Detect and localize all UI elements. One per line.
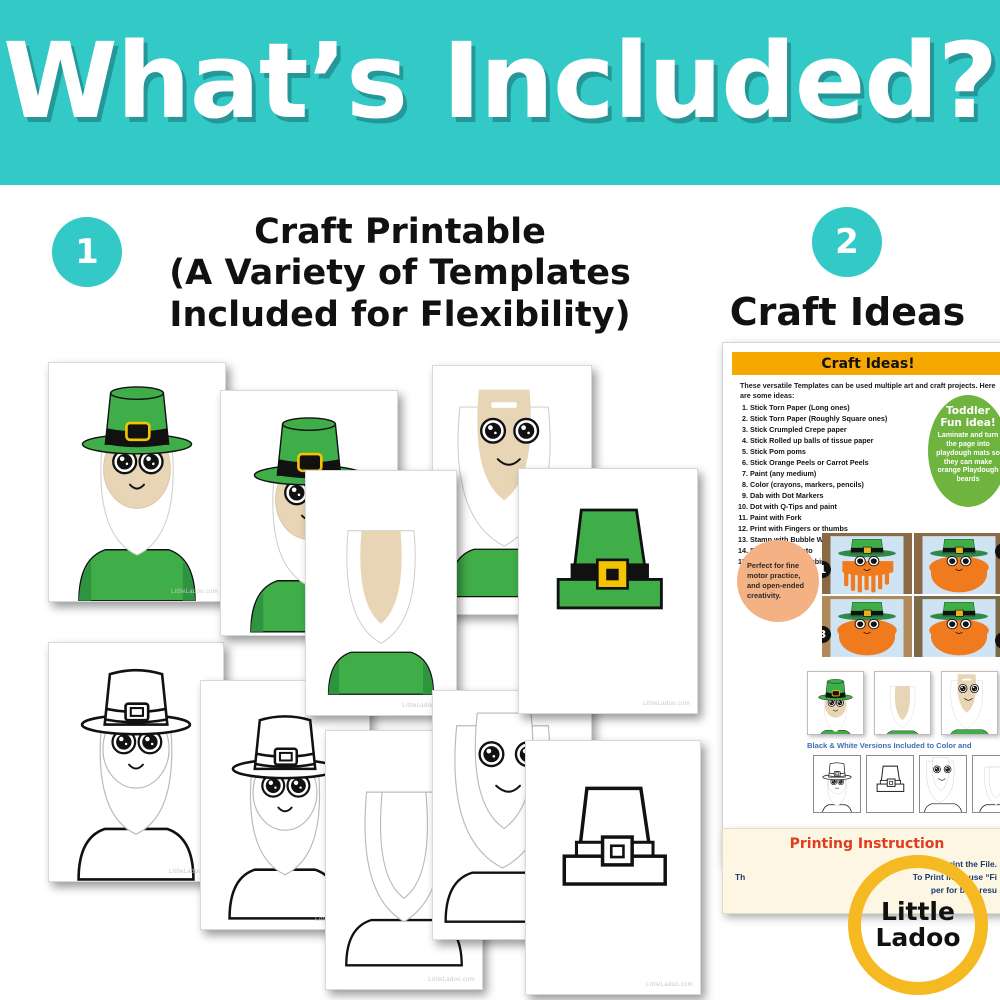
- logo-line-1: Little: [875, 899, 960, 926]
- color-leprechaun-full-1: LittleLadoo.com: [48, 362, 226, 602]
- bw-template-thumb-4: [972, 755, 1000, 813]
- section-heading-2: Craft Ideas: [700, 290, 995, 335]
- bw-versions-note: Black & White Versions Included to Color…: [807, 741, 1000, 750]
- craft-photo-4: 4: [914, 596, 1000, 657]
- craft-ideas-title: Craft Ideas!: [821, 356, 914, 372]
- color-template-thumb-1: [807, 671, 864, 735]
- printing-instruction-title: Printing Instruction: [723, 836, 1000, 852]
- page-title: What’s Included?: [3, 29, 997, 133]
- printable-card-stack: LittleLadoo.com LittleLadoo.com LittleLa…: [0, 340, 720, 1000]
- bw-hat-only: LittleLadoo.com: [525, 740, 701, 995]
- color-template-thumb-3: [941, 671, 998, 735]
- color-template-thumb-2: [874, 671, 931, 735]
- color-template-thumbnails: [807, 671, 1000, 735]
- craft-ideas-sheet: Craft Ideas! These versatile Templates c…: [722, 342, 1000, 862]
- section-badge-1: 1: [52, 217, 122, 287]
- bw-leprechaun-full-1: LittleLadoo.com: [48, 642, 224, 882]
- page-root: What’s Included? 1 Craft Printable (A Va…: [0, 0, 1000, 1000]
- craft-idea-item: Paint with Fork: [750, 513, 996, 524]
- bw-template-thumb-1: [813, 755, 861, 813]
- section-badge-2: 2: [812, 207, 882, 277]
- header-banner: What’s Included?: [0, 0, 1000, 185]
- bw-template-thumb-2: [866, 755, 914, 813]
- logo-line-2: Ladoo: [875, 925, 960, 952]
- craft-ideas-titlebar: Craft Ideas!: [732, 352, 1000, 375]
- watermark: LittleLadoo.com: [171, 589, 218, 595]
- perfect-for-bubble: Perfect for fine motor practice, and ope…: [737, 540, 819, 622]
- little-ladoo-logo: Little Ladoo: [848, 855, 988, 995]
- bw-template-thumb-3: [919, 755, 967, 813]
- perfect-for-text: Perfect for fine motor practice, and ope…: [737, 561, 819, 601]
- color-beard-only: LittleLadoo.com: [305, 470, 457, 716]
- craft-photo-2: 2: [914, 533, 1000, 594]
- toddler-bubble-title: Toddler Fun idea!: [940, 406, 995, 429]
- craft-photo-1: 1: [822, 533, 912, 594]
- craft-photo-3: 3: [822, 596, 912, 657]
- watermark: LittleLadoo.com: [646, 982, 693, 988]
- color-hat-only: LittleLadoo.com: [518, 468, 698, 714]
- craft-photo-grid: 1 2 3: [822, 533, 1000, 657]
- watermark: LittleLadoo.com: [643, 701, 690, 707]
- watermark: LittleLadoo.com: [428, 977, 475, 983]
- section-heading-1: Craft Printable (A Variety of Templates …: [140, 212, 660, 336]
- toddler-bubble-body: Laminate and turn the page into playdoug…: [928, 432, 1000, 485]
- toddler-fun-idea-bubble: Toddler Fun idea! Laminate and turn the …: [928, 395, 1000, 507]
- printing-line-left: Th: [735, 872, 745, 882]
- logo-text: Little Ladoo: [875, 899, 960, 952]
- bw-template-thumbnails: [813, 755, 1000, 815]
